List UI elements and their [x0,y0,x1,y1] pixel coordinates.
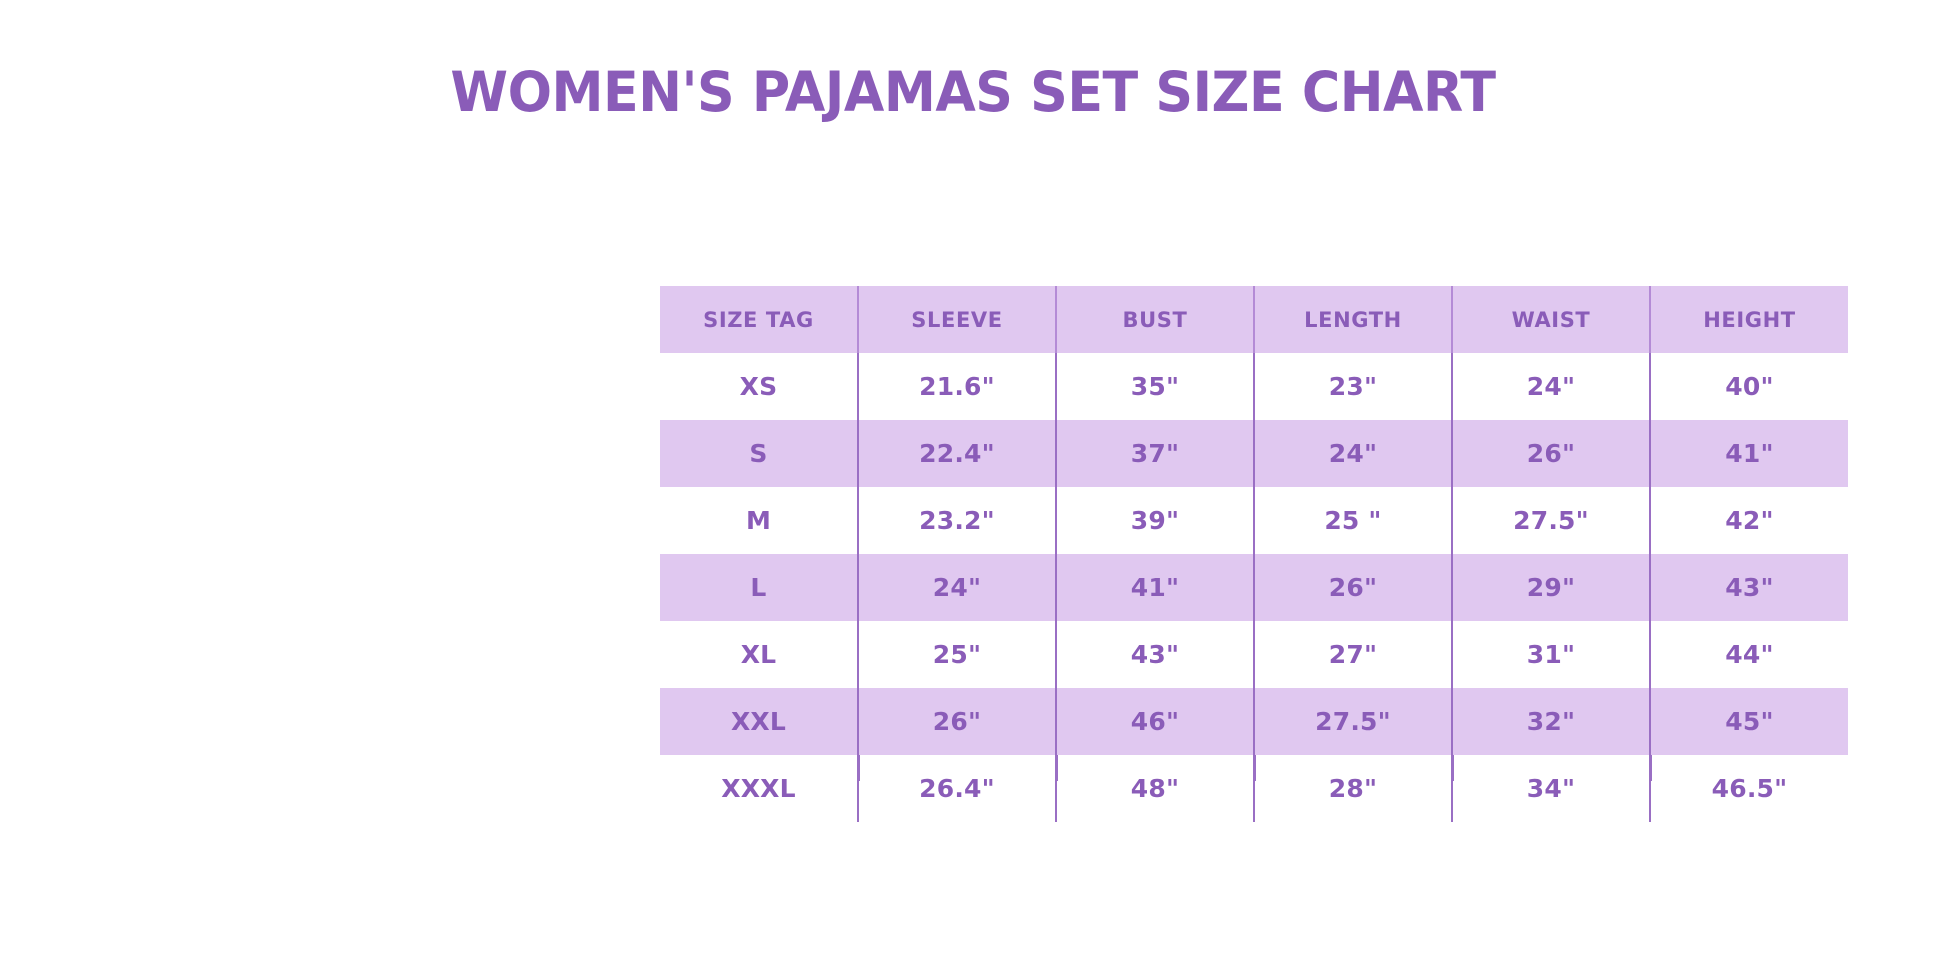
cell-size-tag: XS [660,353,858,420]
cell-size-tag: S [660,420,858,487]
table-row: S 22.4" 37" 24" 26" 41" [660,420,1848,487]
page-title: WOMEN'S PAJAMAS SET SIZE CHART [49,62,1898,123]
table-row: L 24" 41" 26" 29" 43" [660,554,1848,621]
cell-size-tag: M [660,487,858,554]
column-header-bust: BUST [1056,286,1254,353]
column-header-sleeve: SLEEVE [858,286,1056,353]
cell-sleeve: 24" [858,554,1056,621]
cell-sleeve: 21.6" [858,353,1056,420]
column-header-height: HEIGHT [1650,286,1848,353]
table-row: XL 25" 43" 27" 31" 44" [660,621,1848,688]
cell-bust: 35" [1056,353,1254,420]
cell-sleeve: 26" [858,688,1056,755]
cell-size-tag: XL [660,621,858,688]
cell-waist: 29" [1452,554,1650,621]
cell-waist: 27.5" [1452,487,1650,554]
cell-length: 26" [1254,554,1452,621]
cell-waist: 32" [1452,688,1650,755]
cell-length: 28" [1254,755,1452,822]
cell-height: 42" [1650,487,1848,554]
cell-height: 45" [1650,688,1848,755]
column-header-size-tag: SIZE TAG [660,286,858,353]
size-chart-table-container: SIZE TAG SLEEVE BUST LENGTH WAIST HEIGHT… [660,286,1848,822]
cell-size-tag: XXL [660,688,858,755]
cell-height: 43" [1650,554,1848,621]
cell-length: 24" [1254,420,1452,487]
cell-length: 23" [1254,353,1452,420]
table-row: XS 21.6" 35" 23" 24" 40" [660,353,1848,420]
cell-length: 25 " [1254,487,1452,554]
table-row: XXXL 26.4" 48" 28" 34" 46.5" [660,755,1848,822]
column-header-waist: WAIST [1452,286,1650,353]
cell-sleeve: 23.2" [858,487,1056,554]
cell-size-tag: L [660,554,858,621]
size-chart-table: SIZE TAG SLEEVE BUST LENGTH WAIST HEIGHT… [660,286,1848,822]
cell-sleeve: 26.4" [858,755,1056,822]
cell-sleeve: 22.4" [858,420,1056,487]
column-header-length: LENGTH [1254,286,1452,353]
cell-height: 44" [1650,621,1848,688]
cell-sleeve: 25" [858,621,1056,688]
cell-length: 27" [1254,621,1452,688]
cell-waist: 26" [1452,420,1650,487]
cell-bust: 41" [1056,554,1254,621]
table-row: M 23.2" 39" 25 " 27.5" 42" [660,487,1848,554]
cell-bust: 43" [1056,621,1254,688]
cell-bust: 39" [1056,487,1254,554]
size-chart-page: WOMEN'S PAJAMAS SET SIZE CHART SIZE TAG … [0,0,1946,973]
cell-bust: 48" [1056,755,1254,822]
cell-bust: 37" [1056,420,1254,487]
table-row: XXL 26" 46" 27.5" 32" 45" [660,688,1848,755]
cell-height: 41" [1650,420,1848,487]
cell-waist: 34" [1452,755,1650,822]
table-header-row: SIZE TAG SLEEVE BUST LENGTH WAIST HEIGHT [660,286,1848,353]
cell-waist: 24" [1452,353,1650,420]
cell-bust: 46" [1056,688,1254,755]
cell-height: 46.5" [1650,755,1848,822]
cell-height: 40" [1650,353,1848,420]
cell-length: 27.5" [1254,688,1452,755]
cell-size-tag: XXXL [660,755,858,822]
cell-waist: 31" [1452,621,1650,688]
